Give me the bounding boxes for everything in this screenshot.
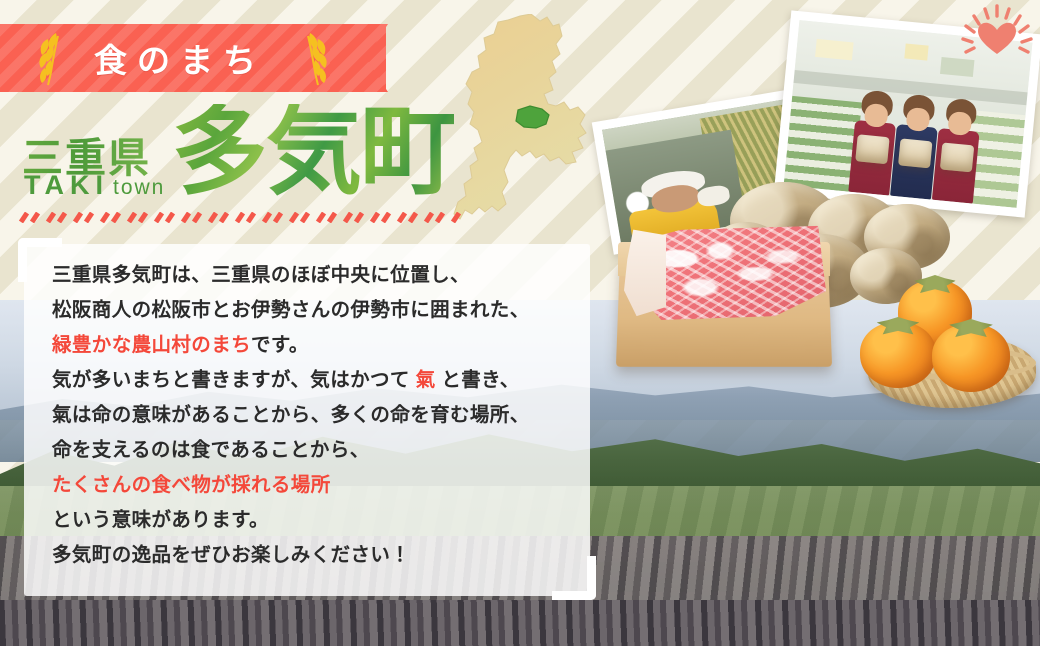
plain-text: 松阪商人の松阪市とお伊勢さんの伊勢市に囲まれた、 xyxy=(52,299,530,321)
romaji-sub: town xyxy=(113,176,165,201)
persimmon-right xyxy=(932,324,1010,392)
description-line: 三重県多気町は、三重県のほぼ中央に位置し、 xyxy=(52,258,592,293)
plain-text: 気が多いまちと書きますが、気はかつて xyxy=(52,369,416,391)
highlighted-text: たくさんの食べ物が採れる場所 xyxy=(52,474,331,496)
banner-root: 食のまち 三重県 多気町 TAKI town xyxy=(0,0,1040,646)
highlighted-text: 氣 xyxy=(416,369,436,391)
plain-text: 三重県多気町は、三重県のほぼ中央に位置し、 xyxy=(52,264,470,286)
romaji-title: TAKI town xyxy=(24,170,165,201)
heart-burst-icon xyxy=(958,4,1036,72)
shop-sign-1 xyxy=(815,38,854,60)
plain-text: 氣は命の意味があることから、多くの命を育む場所、 xyxy=(52,404,530,426)
description-line: という意味があります。 xyxy=(52,503,592,538)
romaji-main: TAKI xyxy=(24,170,109,201)
plain-text: と書き、 xyxy=(436,369,520,391)
dashed-divider xyxy=(18,212,470,223)
description-line: 緑豊かな農山村のまちです。 xyxy=(52,328,592,363)
plain-text: です。 xyxy=(251,334,309,356)
persimmon-left xyxy=(860,322,936,388)
shop-sign-2 xyxy=(904,44,929,61)
description-line: 松阪商人の松阪市とお伊勢さんの伊勢市に囲まれた、 xyxy=(52,293,592,328)
description-line: 命を支えるのは食であることから、 xyxy=(52,433,592,468)
town-title: 多気町 xyxy=(172,104,454,200)
description-line: たくさんの食べ物が採れる場所 xyxy=(52,468,592,503)
description-line: 多気町の逸品をぜひお楽しみください！ xyxy=(52,538,592,573)
food-still-life xyxy=(612,176,1040,432)
plain-text: という意味があります。 xyxy=(52,509,269,531)
ribbon-label: 食のまち xyxy=(0,24,360,92)
description-text: 三重県多気町は、三重県のほぼ中央に位置し、松阪商人の松阪市とお伊勢さんの伊勢市に… xyxy=(52,258,592,573)
held-basket-3 xyxy=(939,143,973,173)
mie-prefecture-map xyxy=(452,14,602,242)
highlighted-text: 緑豊かな農山村のまち xyxy=(52,334,251,356)
description-line: 気が多いまちと書きますが、気はかつて 氣 と書き、 xyxy=(52,363,592,398)
plain-text: 多気町の逸品をぜひお楽しみください！ xyxy=(52,544,410,566)
held-basket-2 xyxy=(898,139,932,169)
held-basket-1 xyxy=(856,135,890,165)
plain-text: 命を支えるのは食であることから、 xyxy=(52,439,370,461)
description-line: 氣は命の意味があることから、多くの命を育む場所、 xyxy=(52,398,592,433)
